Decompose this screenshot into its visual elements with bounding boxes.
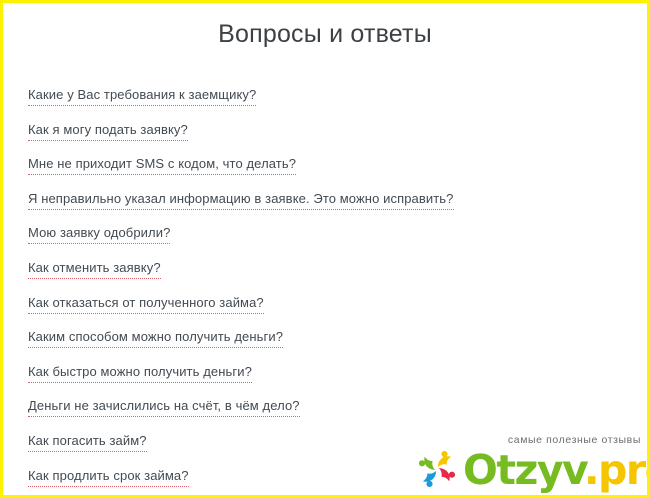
list-item: Какие у Вас требования к заемщику? [28,87,637,122]
list-item: Как отменить заявку? [28,260,637,295]
page-title: Вопросы и ответы [3,3,647,49]
list-item: Деньги не зачислились на счёт, в чём дел… [28,398,637,433]
faq-link-extend-loan[interactable]: Как продлить срок займа? [28,468,189,487]
faq-link-requirements[interactable]: Какие у Вас требования к заемщику? [28,87,256,106]
faq-link-sms-code[interactable]: Мне не приходит SMS с кодом, что делать? [28,156,296,175]
watermark-tagline: самые полезные отзывы [508,434,641,446]
list-item: Мою заявку одобрили? [28,225,637,260]
faq-page: Вопросы и ответы Какие у Вас требования … [0,0,650,498]
list-item: Как отказаться от полученного займа? [28,295,637,330]
people-pinwheel-icon [415,447,459,491]
list-item: Как я могу подать заявку? [28,122,637,157]
list-item: Каким способом можно получить деньги? [28,329,637,364]
list-item: Я неправильно указал информацию в заявке… [28,191,637,226]
watermark-logo: Otzyv.pro [415,447,650,491]
faq-link-money-not-credited[interactable]: Деньги не зачислились на счёт, в чём дел… [28,398,300,417]
watermark-brand: Otzyv.pro [463,449,650,491]
watermark-brand-primary: Otzyv [463,446,584,494]
list-item: Как быстро можно получить деньги? [28,364,637,399]
faq-link-repay-loan[interactable]: Как погасить займ? [28,433,147,452]
faq-link-how-to-apply[interactable]: Как я могу подать заявку? [28,122,188,141]
faq-link-cancel-application[interactable]: Как отменить заявку? [28,260,161,279]
site-watermark: самые полезные отзывы [415,431,643,491]
watermark-brand-secondary: .pro [584,446,650,494]
list-item: Мне не приходит SMS с кодом, что делать? [28,156,637,191]
faq-link-application-approved[interactable]: Мою заявку одобрили? [28,225,170,244]
faq-link-wrong-info[interactable]: Я неправильно указал информацию в заявке… [28,191,454,210]
faq-link-payout-methods[interactable]: Каким способом можно получить деньги? [28,329,283,348]
faq-link-refuse-loan[interactable]: Как отказаться от полученного займа? [28,295,264,314]
faq-link-payout-speed[interactable]: Как быстро можно получить деньги? [28,364,252,383]
